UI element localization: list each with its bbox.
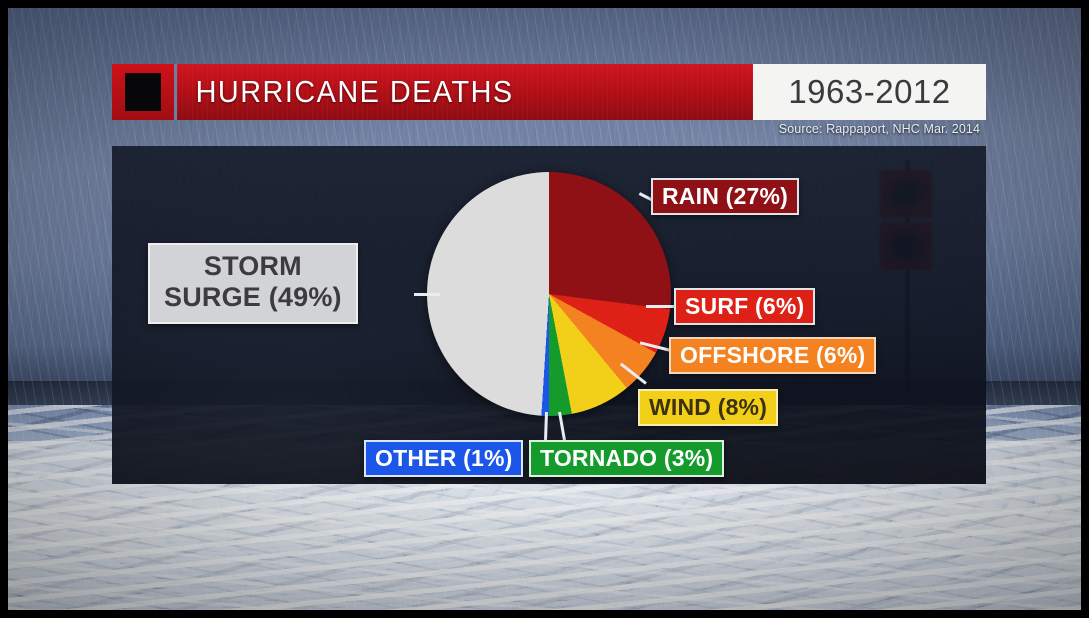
- pie-label-storm-surge-line2: SURGE (49%): [164, 282, 342, 313]
- title-bar: HURRICANE DEATHS 1963-2012: [112, 64, 986, 120]
- logo-container: [112, 64, 174, 120]
- pie-chart: [427, 172, 671, 416]
- pie-slices: [427, 172, 671, 416]
- date-range-text: 1963-2012: [788, 73, 950, 111]
- source-attribution: Source: Rappaport, NHC Mar. 2014: [0, 122, 986, 136]
- date-range-box: 1963-2012: [753, 64, 986, 120]
- pie-label-surf: SURF (6%): [674, 288, 815, 325]
- graphic-stage: HURRICANE DEATHS 1963-2012 Source: Rappa…: [0, 0, 1089, 618]
- page-title: HURRICANE DEATHS: [177, 74, 514, 110]
- pie-label-tornado: TORNADO (3%): [529, 440, 724, 477]
- pie-label-rain: RAIN (27%): [651, 178, 799, 215]
- pie-label-offshore: OFFSHORE (6%): [669, 337, 876, 374]
- title-banner: HURRICANE DEATHS: [177, 64, 753, 120]
- pie-label-storm-surge-line1: STORM: [164, 251, 342, 282]
- pie-label-storm-surge: STORM SURGE (49%): [148, 243, 358, 324]
- pie-label-other: OTHER (1%): [364, 440, 523, 477]
- pie-label-wind: WIND (8%): [638, 389, 778, 426]
- station-logo-square-icon: [125, 73, 161, 111]
- leader-line-storm-surge: [414, 293, 440, 296]
